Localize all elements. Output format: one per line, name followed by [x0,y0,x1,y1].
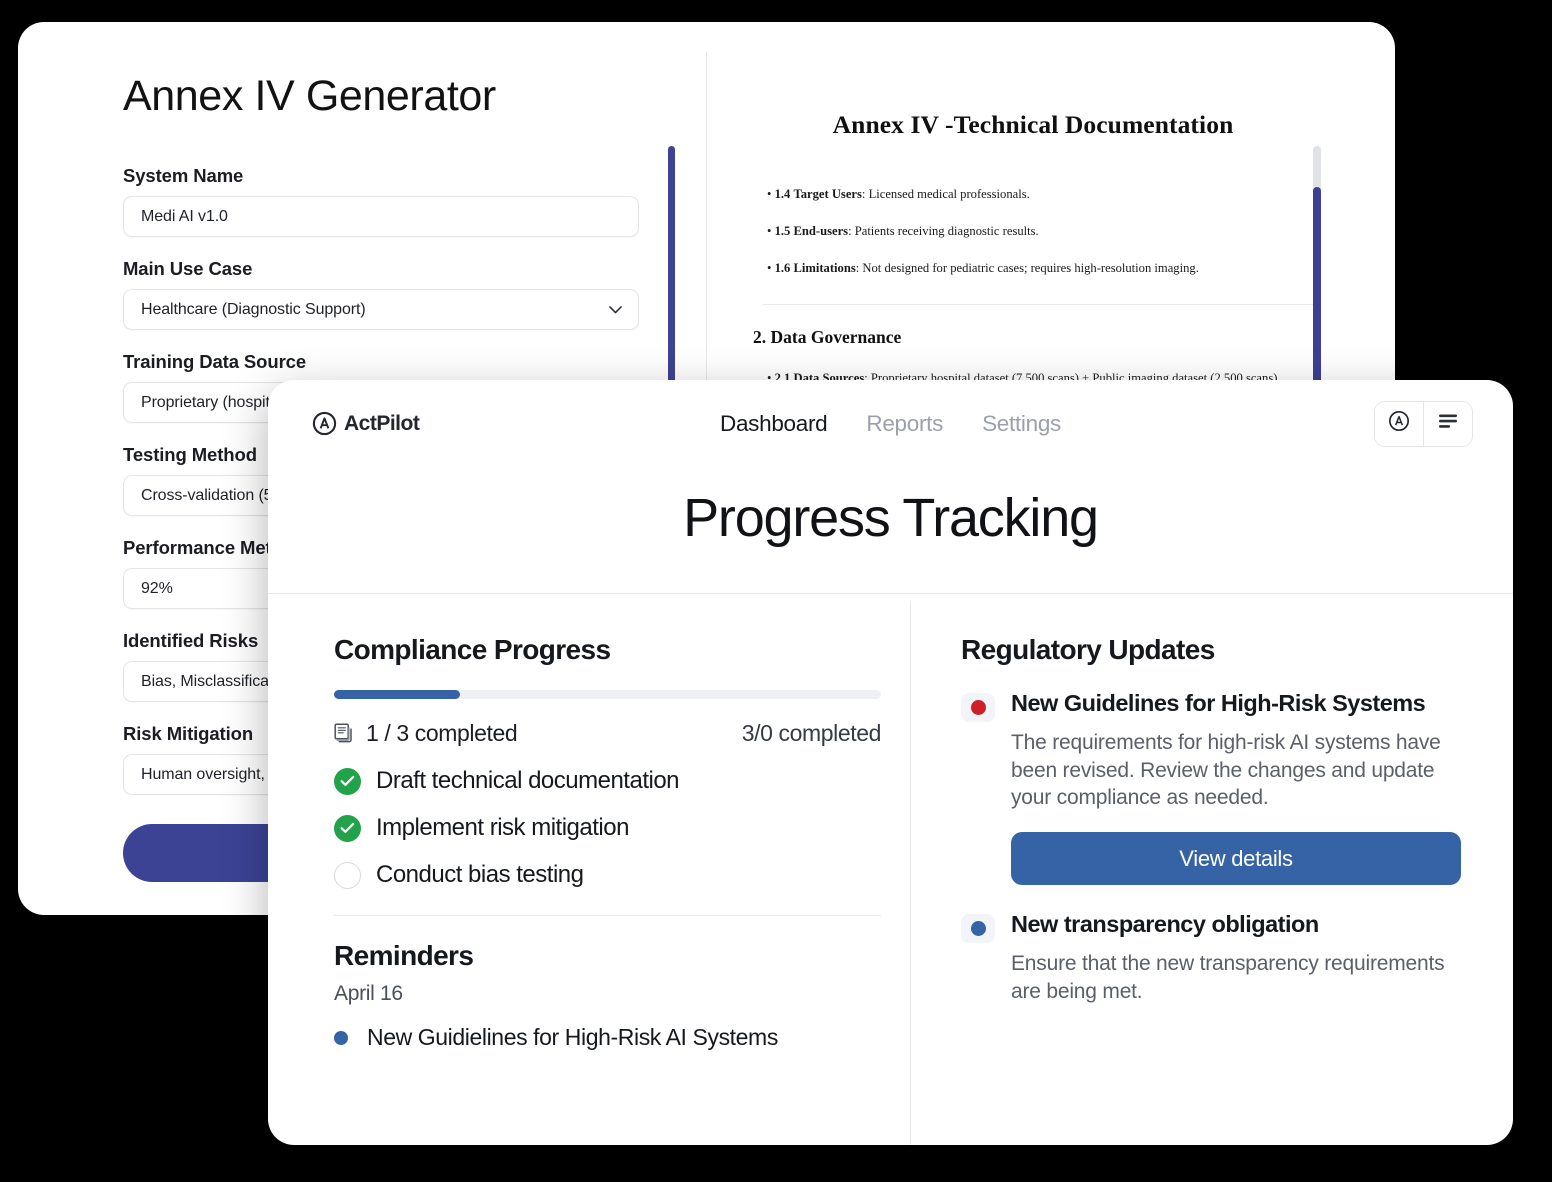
reminders-heading: Reminders [334,940,910,972]
document-divider [763,304,1313,305]
status-dot-icon [971,700,986,715]
bullet-num: 1.4 [775,187,791,201]
field-main-use-case: Main Use Case Healthcare (Diagnostic Sup… [123,258,643,330]
field-value: Healthcare (Diagnostic Support) [141,301,366,319]
field-system-name: System Name Medi AI v1.0 [123,165,643,237]
document-title: Annex IV -Technical Documentation [753,110,1313,140]
field-value: Medi AI v1.0 [141,208,228,226]
reminders-date: April 16 [334,982,910,1006]
compliance-count-secondary: 3/0 completed [742,720,881,747]
regulatory-update-title: New Guidelines for High-Risk Systems [1011,690,1513,717]
document-bullet: • 1.4 Target Users: Licensed medical pro… [767,186,1313,204]
document-scrollbar-thumb[interactable] [1313,187,1321,401]
bullet-num: 1.6 [775,261,791,275]
regulatory-update-title: New transparency obligation [1011,911,1513,938]
reminder-label: New Guidielines for High-Risk AI Systems [367,1024,778,1051]
main-use-case-select[interactable]: Healthcare (Diagnostic Support) [123,289,639,330]
bullet-text: Patients receiving diagnostic results. [855,224,1039,238]
document-bullet: • 1.5 End-users: Patients receiving diag… [767,223,1313,241]
actpilot-dashboard-window: ActPilot Dashboard Reports Settings [268,380,1513,1145]
check-circle-icon [334,768,361,795]
bullet-term: Limitations [793,261,855,275]
dashboard-page-title: Progress Tracking [268,487,1513,549]
compliance-task[interactable]: Draft technical documentation [334,767,910,795]
bullet-term: Target Users [793,187,861,201]
status-badge [961,693,995,722]
document-bullet: • 1.6 Limitations: Not designed for pedi… [767,260,1313,278]
compliance-panel: Compliance Progress 1 / 3 completed [268,594,910,1145]
compliance-progress-bar [334,690,881,699]
form-scrollbar-thumb[interactable] [668,146,675,398]
status-badge [961,914,995,943]
actpilot-logo-icon [312,411,337,436]
nav-actions [1374,401,1473,447]
brand-name: ActPilot [344,412,419,436]
hamburger-menu-icon [1437,413,1459,434]
compliance-task-label: Conduct bias testing [376,861,583,889]
compliance-count-row: 1 / 3 completed 3/0 completed [334,720,881,747]
bullet-text: Not designed for pediatric cases; requir… [862,261,1198,275]
compliance-progress-fill [334,690,460,699]
bullet-term: End-users [793,224,848,238]
view-details-button[interactable]: View details [1011,832,1461,885]
menu-button[interactable] [1423,402,1472,446]
navbar: ActPilot Dashboard Reports Settings [268,380,1513,467]
regulatory-update-item: New Guidelines for High-Risk Systems The… [961,690,1513,885]
status-dot-icon [971,921,986,936]
regulatory-updates-panel: Regulatory Updates New Guidelines for Hi… [911,594,1513,1145]
compliance-task[interactable]: Implement risk mitigation [334,814,910,842]
regulatory-update-description: The requirements for high-risk AI system… [1011,729,1463,812]
chevron-down-icon [609,306,622,314]
actpilot-logo-button[interactable] [1375,402,1423,446]
regulatory-update-description: Ensure that the new transparency require… [1011,950,1463,1005]
compliance-count-label: 1 / 3 completed [366,720,517,747]
compliance-task-label: Draft technical documentation [376,767,679,795]
nav-item-settings[interactable]: Settings [982,411,1061,437]
bullet-num: 1.5 [775,224,791,238]
field-label: System Name [123,165,643,187]
nav-item-dashboard[interactable]: Dashboard [720,411,827,437]
dashboard-body: Compliance Progress 1 / 3 completed [268,594,1513,1145]
page-title: Annex IV Generator [123,74,643,119]
bullet-text: Licensed medical professionals. [869,187,1030,201]
document-scrollbar[interactable] [1313,146,1321,401]
check-circle-icon [334,815,361,842]
form-scrollbar[interactable] [668,146,675,398]
actpilot-logo-icon [1388,410,1410,437]
nav-item-reports[interactable]: Reports [866,411,943,437]
spacer [961,893,1513,911]
field-value: 92% [141,580,173,598]
field-label: Main Use Case [123,258,643,280]
compliance-task[interactable]: Conduct bias testing [334,861,910,889]
field-label: Training Data Source [123,351,643,373]
regulatory-heading: Regulatory Updates [961,634,1513,666]
empty-circle-icon [334,862,361,889]
reminder-list-item[interactable]: New Guidielines for High-Risk AI Systems [334,1024,910,1051]
brand[interactable]: ActPilot [312,411,419,436]
system-name-input[interactable]: Medi AI v1.0 [123,196,639,237]
compliance-task-label: Implement risk mitigation [376,814,629,842]
section-divider [334,915,881,916]
document-section-heading: 2. Data Governance [753,327,1313,348]
bullet-dot-icon [334,1031,348,1045]
compliance-heading: Compliance Progress [334,634,910,666]
documents-copy-icon [334,723,355,744]
regulatory-update-item: New transparency obligation Ensure that … [961,911,1513,1005]
nav-links: Dashboard Reports Settings [268,380,1513,467]
